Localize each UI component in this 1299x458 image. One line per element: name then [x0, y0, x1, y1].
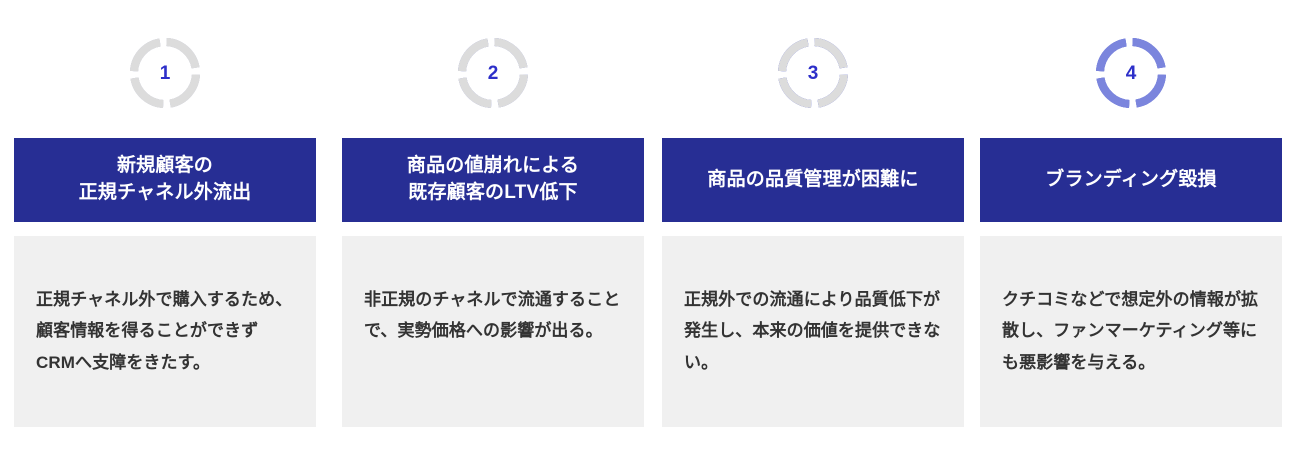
risk-card-title-2: 商品の値崩れによる 既存顧客のLTV低下: [407, 153, 579, 207]
risk-card-header-2: 商品の値崩れによる 既存顧客のLTV低下: [342, 138, 644, 222]
risk-card-description-2: 非正規のチャネルで流通することで、実勢価格への影響が出る。: [364, 284, 622, 347]
risk-card-title-4: ブランディング毀損: [1045, 167, 1216, 194]
risk-card-body-1: 正規チャネル外で購入するため、顧客情報を得ることができずCRMへ支障をきたす。: [14, 236, 316, 427]
risk-card-title-1: 新規顧客の 正規チャネル外流出: [79, 153, 252, 207]
step-progress-ring-2: 2: [454, 34, 532, 112]
step-progress-ring-1: 1: [126, 34, 204, 112]
step-number-2: 2: [454, 34, 532, 112]
risk-card-header-1: 新規顧客の 正規チャネル外流出: [14, 138, 316, 222]
step-number-3: 3: [774, 34, 852, 112]
risk-cards-board: 1 新規顧客の 正規チャネル外流出 正規チャネル外で購入するため、顧客情報を得る…: [0, 0, 1299, 458]
step-progress-ring-4: 4: [1092, 34, 1170, 112]
risk-card-description-1: 正規チャネル外で購入するため、顧客情報を得ることができずCRMへ支障をきたす。: [36, 284, 294, 378]
risk-card-body-3: 正規外での流通により品質低下が発生し、本来の価値を提供できない。: [662, 236, 964, 427]
risk-card-header-3: 商品の品質管理が困難に: [662, 138, 964, 222]
risk-card-description-4: クチコミなどで想定外の情報が拡散し、ファンマーケティング等にも悪影響を与える。: [1002, 284, 1260, 378]
step-number-1: 1: [126, 34, 204, 112]
risk-card-title-3: 商品の品質管理が困難に: [707, 167, 918, 194]
risk-card-body-4: クチコミなどで想定外の情報が拡散し、ファンマーケティング等にも悪影響を与える。: [980, 236, 1282, 427]
risk-card-4: 4 ブランディング毀損 クチコミなどで想定外の情報が拡散し、ファンマーケティング…: [980, 0, 1282, 458]
risk-card-3: 3 商品の品質管理が困難に 正規外での流通により品質低下が発生し、本来の価値を提…: [662, 0, 964, 458]
risk-card-1: 1 新規顧客の 正規チャネル外流出 正規チャネル外で購入するため、顧客情報を得る…: [14, 0, 316, 458]
step-progress-ring-3: 3: [774, 34, 852, 112]
risk-card-2: 2 商品の値崩れによる 既存顧客のLTV低下 非正規のチャネルで流通することで、…: [342, 0, 644, 458]
risk-card-header-4: ブランディング毀損: [980, 138, 1282, 222]
step-number-4: 4: [1092, 34, 1170, 112]
risk-card-description-3: 正規外での流通により品質低下が発生し、本来の価値を提供できない。: [684, 284, 942, 378]
risk-card-body-2: 非正規のチャネルで流通することで、実勢価格への影響が出る。: [342, 236, 644, 427]
